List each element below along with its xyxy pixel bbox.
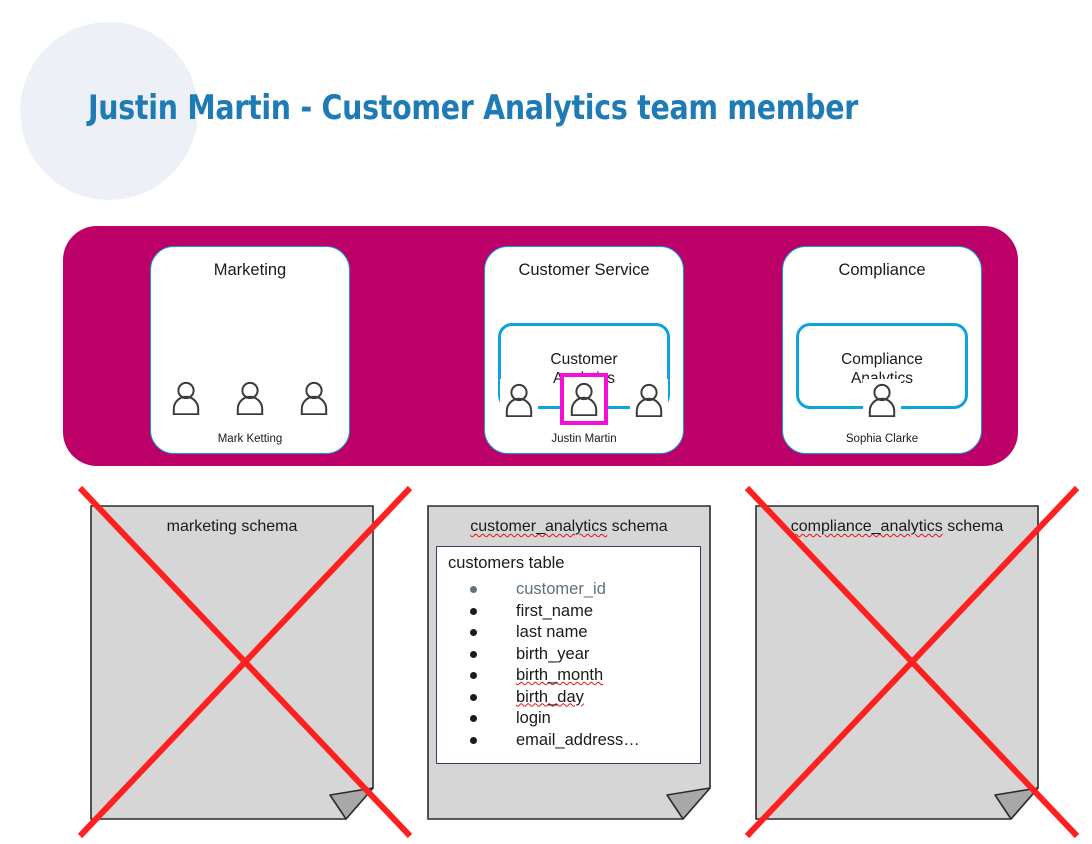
schema-title-name: compliance_analytics (791, 518, 943, 535)
document-shape (90, 505, 384, 820)
person-icon[interactable] (500, 379, 538, 421)
schema-document-marketing[interactable]: marketing schema (90, 505, 384, 820)
field-label: birth_year (516, 645, 589, 663)
field-label: login (516, 709, 551, 727)
field-item: login (448, 708, 640, 730)
bullet-icon (470, 737, 477, 744)
field-label: birth_day (516, 688, 584, 706)
department-title: Marketing (151, 261, 349, 280)
person-icon[interactable] (167, 377, 205, 419)
bullet-icon (470, 694, 477, 701)
member-name-label: Mark Ketting (151, 433, 349, 445)
people-row (783, 377, 981, 421)
field-item: birth_day (448, 687, 640, 709)
schema-title-name: marketing (167, 518, 237, 535)
field-item: birth_year (448, 644, 640, 666)
schema-title: marketing schema (90, 518, 374, 536)
subgroup-label-line1: Compliance (841, 351, 923, 368)
bullet-icon (470, 608, 477, 615)
department-card-customer-service[interactable]: Customer Service Customer Analytics (484, 246, 684, 454)
field-item: email_address… (448, 730, 640, 752)
department-card-marketing[interactable]: Marketing Mark Ketting (150, 246, 350, 454)
bullet-icon (470, 715, 477, 722)
field-item: first_name (448, 601, 640, 623)
document-shape (755, 505, 1049, 820)
field-label: birth_month (516, 666, 603, 684)
schema-title-suffix: schema (237, 518, 297, 535)
bullet-icon (470, 586, 477, 593)
schema-document-customer-analytics[interactable]: customer_analytics schema customers tabl… (427, 505, 721, 820)
field-list: customer_id first_name last name birth_y… (448, 579, 640, 751)
field-label: email_address… (516, 731, 640, 749)
department-title: Customer Service (485, 261, 683, 280)
bullet-icon (470, 651, 477, 658)
subgroup-label-line1: Customer (550, 351, 617, 368)
department-title: Compliance (783, 261, 981, 280)
field-label: first_name (516, 602, 593, 620)
field-label: last name (516, 623, 588, 641)
field-item: customer_id (448, 579, 640, 601)
person-icon[interactable] (231, 377, 269, 419)
schema-title: compliance_analytics schema (755, 518, 1039, 536)
schema-title-suffix: schema (607, 518, 667, 535)
bullet-icon (470, 629, 477, 636)
people-row (485, 377, 683, 421)
member-name-label: Sophia Clarke (783, 433, 981, 445)
people-row (151, 375, 349, 419)
person-icon[interactable] (863, 379, 901, 421)
bullet-icon (470, 672, 477, 679)
schema-table-panel: customers table customer_id first_name l… (436, 546, 701, 764)
table-heading: customers table (448, 554, 564, 573)
field-item: birth_month (448, 665, 640, 687)
schema-title-name: customer_analytics (470, 518, 607, 535)
page-title: Justin Martin - Customer Analytics team … (88, 88, 858, 128)
schema-title-suffix: schema (943, 518, 1003, 535)
member-name-label: Justin Martin (485, 433, 683, 445)
person-icon[interactable] (295, 377, 333, 419)
field-label: customer_id (516, 580, 606, 598)
person-icon-highlighted-justin-martin[interactable] (564, 377, 604, 421)
field-item: last name (448, 622, 640, 644)
department-card-compliance[interactable]: Compliance Compliance Analytics Sophia C… (782, 246, 982, 454)
person-icon[interactable] (630, 379, 668, 421)
schema-document-compliance-analytics[interactable]: compliance_analytics schema (755, 505, 1049, 820)
schema-title: customer_analytics schema (427, 518, 711, 536)
